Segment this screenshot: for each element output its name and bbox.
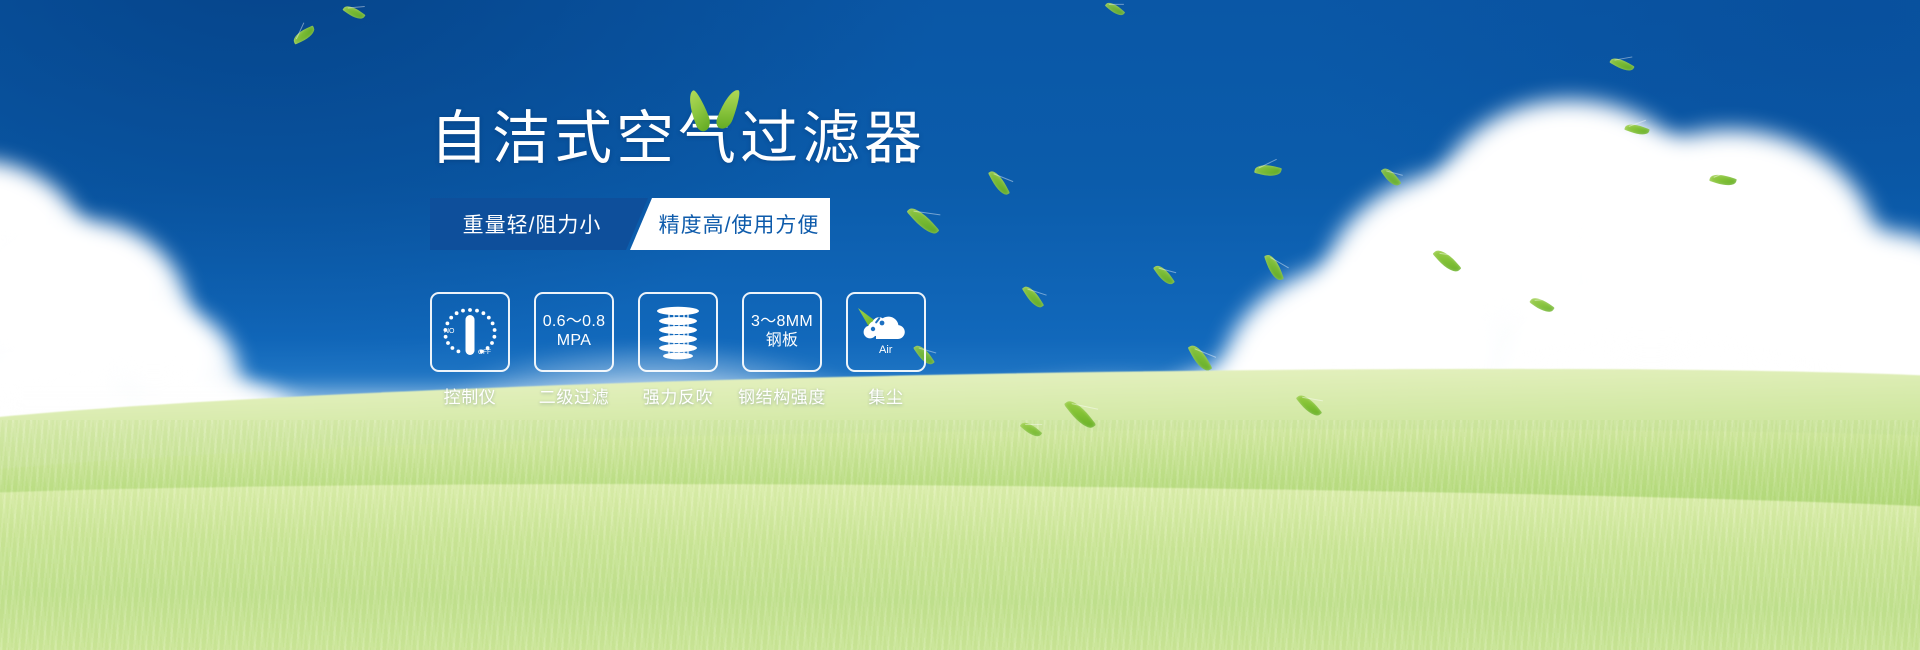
feature-tabs: 重量轻/阻力小 精度高/使用方便 [430,198,830,250]
tab-lightweight-lowresistance[interactable]: 重量轻/阻力小 [430,198,648,250]
steel-thickness: 3～8MM [751,313,813,330]
feature-icon-box: Air [846,292,926,372]
feature-label: 控制仪 [444,383,497,408]
feature-icon-box: NO OFF [430,292,510,372]
feature-item[interactable]: 3～8MM 钢板 钢结构强度 [742,292,822,408]
sprout-leaves-icon [685,88,755,134]
product-banner: 自洁式空气过滤器 重量轻/阻力小 精度高/使用方便 [0,0,1920,650]
tab-highprecision-easyuse[interactable]: 精度高/使用方便 [630,198,830,250]
page-title: 自洁式空气过滤器 [430,110,1150,168]
steel-plate-text-icon: 3～8MM 钢板 [751,313,813,351]
grass-field-near [0,475,1920,650]
dial-off-label: OFF [478,349,491,356]
feature-icon-box [638,292,718,372]
gauge-dial-icon: NO OFF [438,303,502,361]
feature-item[interactable]: 0.6～0.8 MPA 二级过滤 [534,292,614,408]
tab-label: 重量轻/阻力小 [463,209,602,239]
air-label: Air [879,344,893,356]
feature-item[interactable]: 强力反吹 [638,292,718,408]
feature-label: 强力反吹 [643,383,713,408]
feature-label: 二级过滤 [539,383,609,408]
feature-icon-box: 0.6～0.8 MPA [534,292,614,372]
feature-list: NO OFF 控制仪 0.6～0.8 MPA 二级过滤 [430,292,1150,408]
feature-label: 集尘 [868,383,903,408]
feature-label: 钢结构强度 [738,383,826,408]
banner-content: 自洁式空气过滤器 重量轻/阻力小 精度高/使用方便 [430,110,1150,408]
dial-on-label: NO [444,328,455,335]
pressure-range: 0.6～0.8 [543,313,606,330]
pressure-text-icon: 0.6～0.8 MPA [543,313,606,351]
pressure-unit: MPA [543,332,606,351]
filter-stack-icon [650,302,706,362]
feature-icon-box: 3～8MM 钢板 [742,292,822,372]
steel-material: 钢板 [751,332,813,351]
tab-label: 精度高/使用方便 [659,209,820,239]
feature-item[interactable]: NO OFF 控制仪 [430,292,510,408]
air-cloud-icon: Air [852,302,920,362]
feature-item[interactable]: Air 集尘 [846,292,926,408]
